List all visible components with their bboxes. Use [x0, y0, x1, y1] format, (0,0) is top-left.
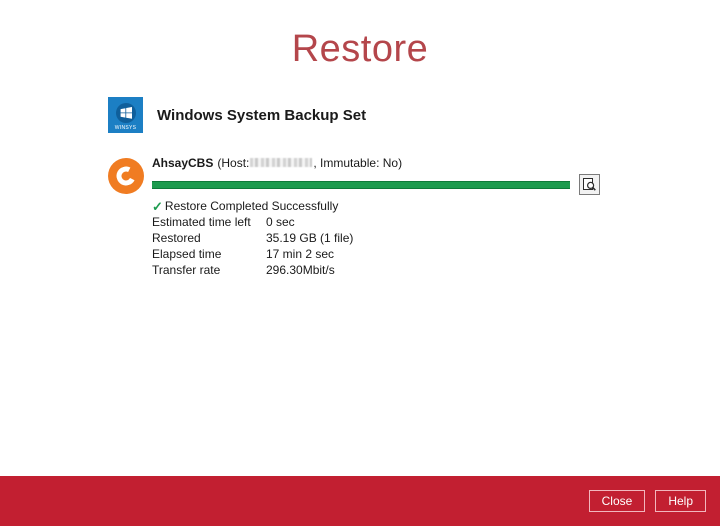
- table-row: Restored 35.19 GB (1 file): [152, 231, 353, 247]
- windows-system-icon-caption: WINSYS: [108, 125, 143, 131]
- page-title: Restore: [0, 0, 720, 52]
- restore-progress-bar: [152, 181, 570, 189]
- backup-set-header: WINSYS Windows System Backup Set: [0, 92, 720, 138]
- stat-value: 0 sec: [266, 215, 353, 231]
- restore-status-line: ✓ Restore Completed Successfully: [152, 199, 720, 214]
- progress-row: [152, 174, 720, 195]
- table-row: Estimated time left 0 sec: [152, 215, 353, 231]
- stat-label: Restored: [152, 231, 266, 247]
- stat-label: Elapsed time: [152, 247, 266, 263]
- windows-system-backup-icon: WINSYS: [108, 97, 143, 133]
- document-search-icon: [583, 178, 596, 191]
- backup-set-name: Windows System Backup Set: [157, 107, 366, 124]
- stat-label: Estimated time left: [152, 215, 266, 231]
- stat-label: Transfer rate: [152, 263, 266, 279]
- job-immutable-text: , Immutable: No): [313, 156, 402, 170]
- restore-stats-body: Estimated time left 0 sec Restored 35.19…: [152, 215, 353, 279]
- restore-progress-fill: [152, 181, 570, 189]
- job-title-line: AhsayCBS (Host: , Immutable: No): [152, 156, 720, 171]
- job-name: AhsayCBS: [152, 156, 213, 170]
- windows-logo-icon: [116, 103, 136, 123]
- stat-value: 296.30Mbit/s: [266, 263, 353, 279]
- restore-job-details: AhsayCBS (Host: , Immutable: No): [152, 156, 720, 279]
- help-button[interactable]: Help: [655, 490, 706, 512]
- ahsay-c-logo-icon: [108, 158, 144, 194]
- close-button[interactable]: Close: [589, 490, 646, 512]
- document-search-icon-button[interactable]: [579, 174, 600, 195]
- restore-job-row: AhsayCBS (Host: , Immutable: No): [0, 156, 720, 279]
- table-row: Elapsed time 17 min 2 sec: [152, 247, 353, 263]
- ahsay-c-glyph: [114, 164, 138, 188]
- check-icon: ✓: [152, 200, 163, 213]
- restore-content: WINSYS Windows System Backup Set AhsayCB…: [0, 92, 720, 476]
- job-host-value-redacted: [250, 158, 312, 167]
- stat-value: 35.19 GB (1 file): [266, 231, 353, 247]
- restore-stats-table: Estimated time left 0 sec Restored 35.19…: [152, 215, 353, 279]
- job-host-label: (Host:: [217, 156, 249, 170]
- restore-status-text: Restore Completed Successfully: [165, 199, 338, 214]
- footer-bar: Close Help: [0, 476, 720, 526]
- stat-value: 17 min 2 sec: [266, 247, 353, 263]
- table-row: Transfer rate 296.30Mbit/s: [152, 263, 353, 279]
